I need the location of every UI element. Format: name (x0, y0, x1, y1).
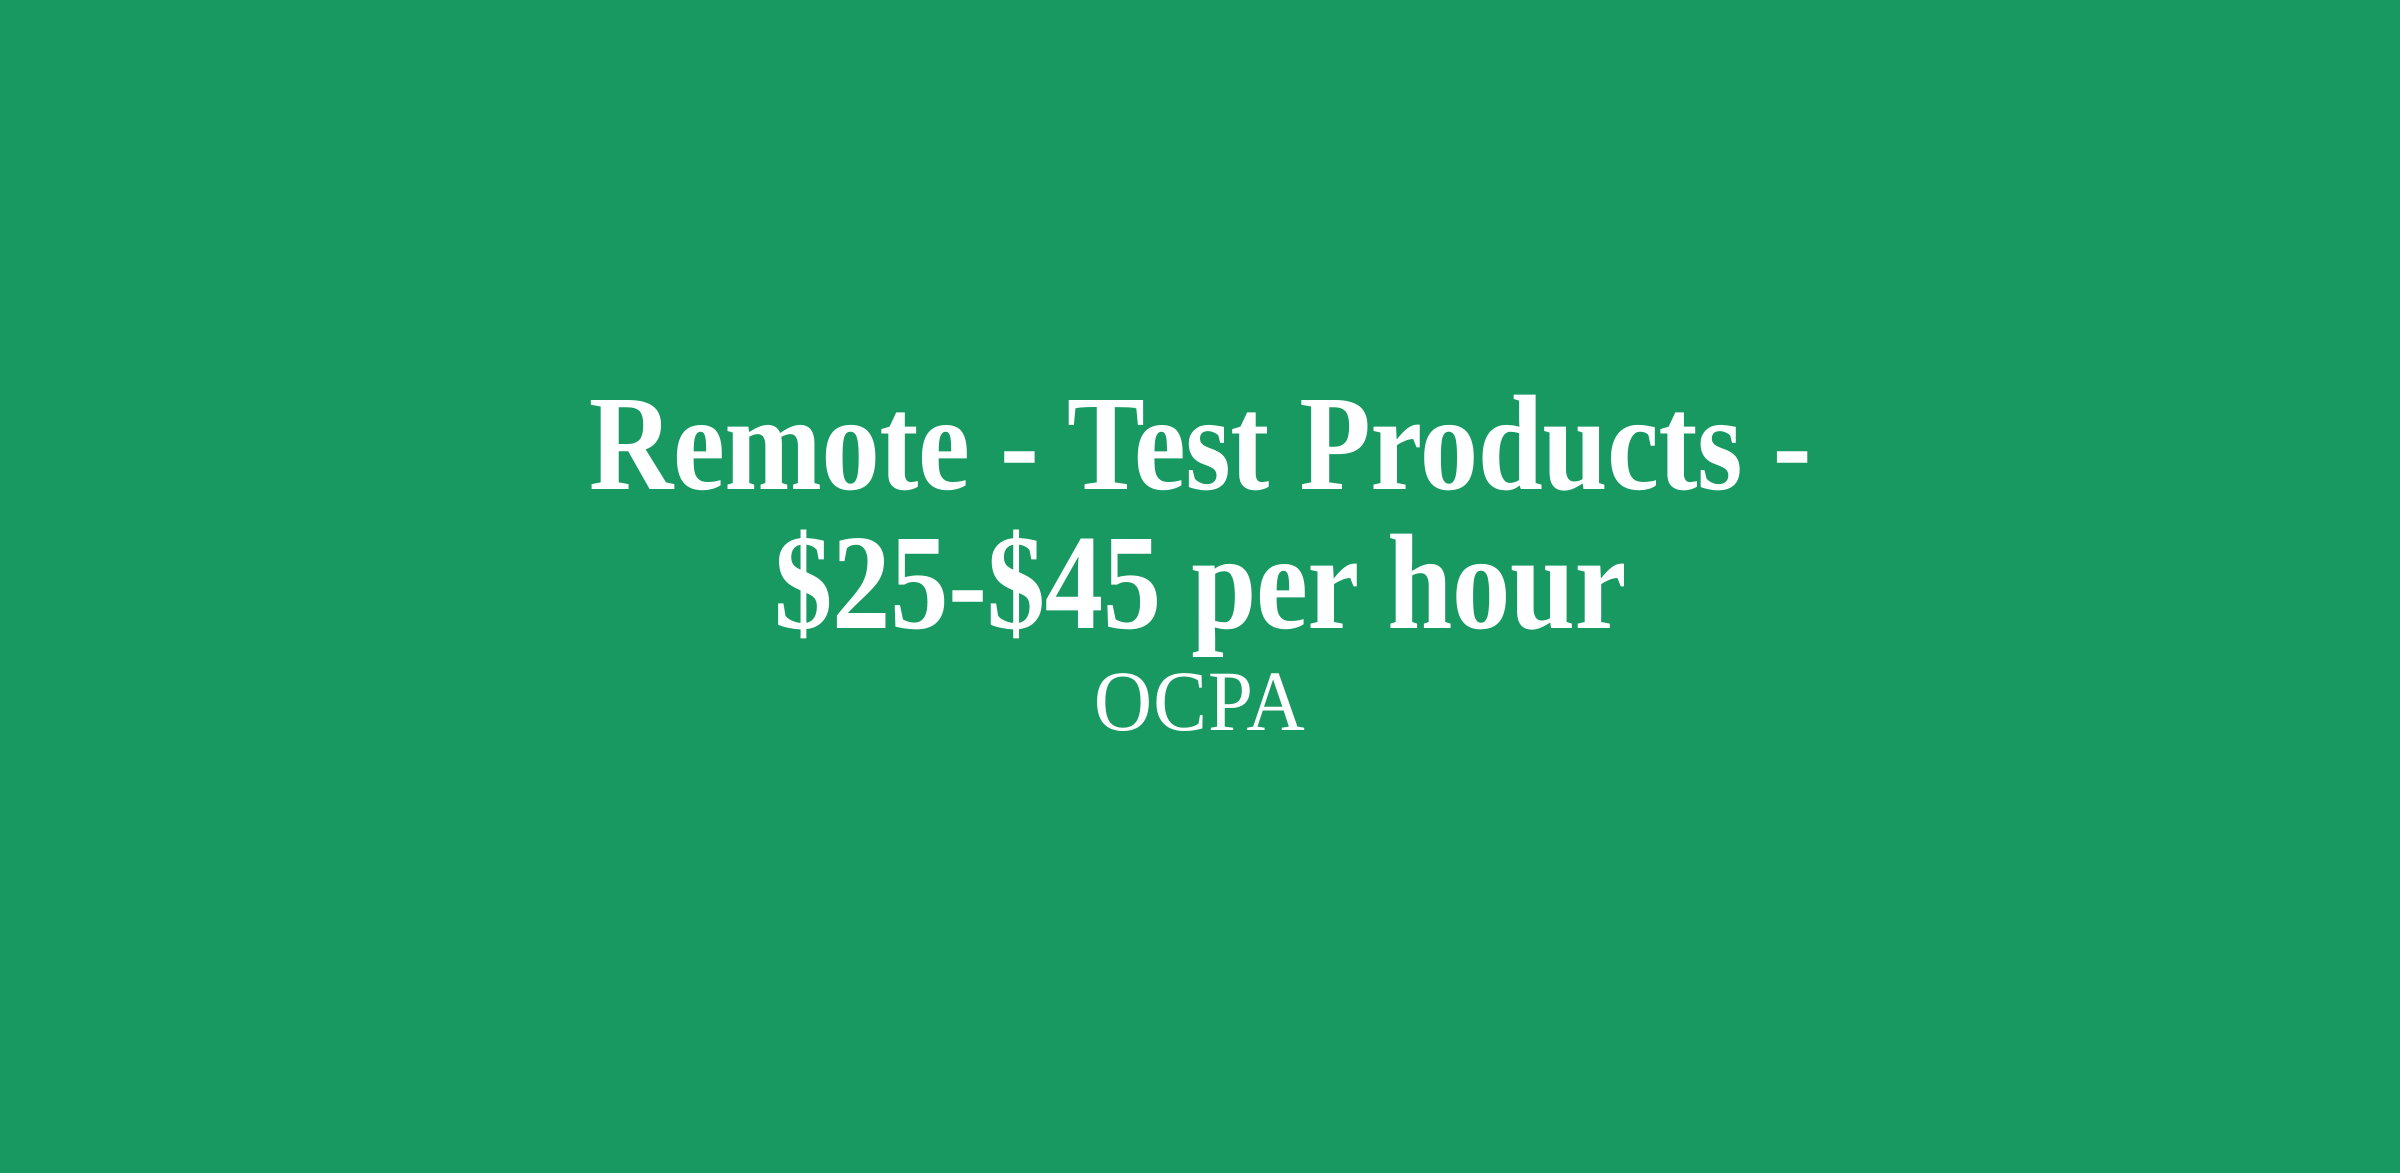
promo-card: Remote - Test Products - $25-$45 per hou… (0, 0, 2400, 1173)
card-subtitle: OCPA (1094, 658, 1306, 744)
page-title: Remote - Test Products - $25-$45 per hou… (529, 375, 1871, 652)
card-text-block: Remote - Test Products - $25-$45 per hou… (420, 375, 1980, 744)
